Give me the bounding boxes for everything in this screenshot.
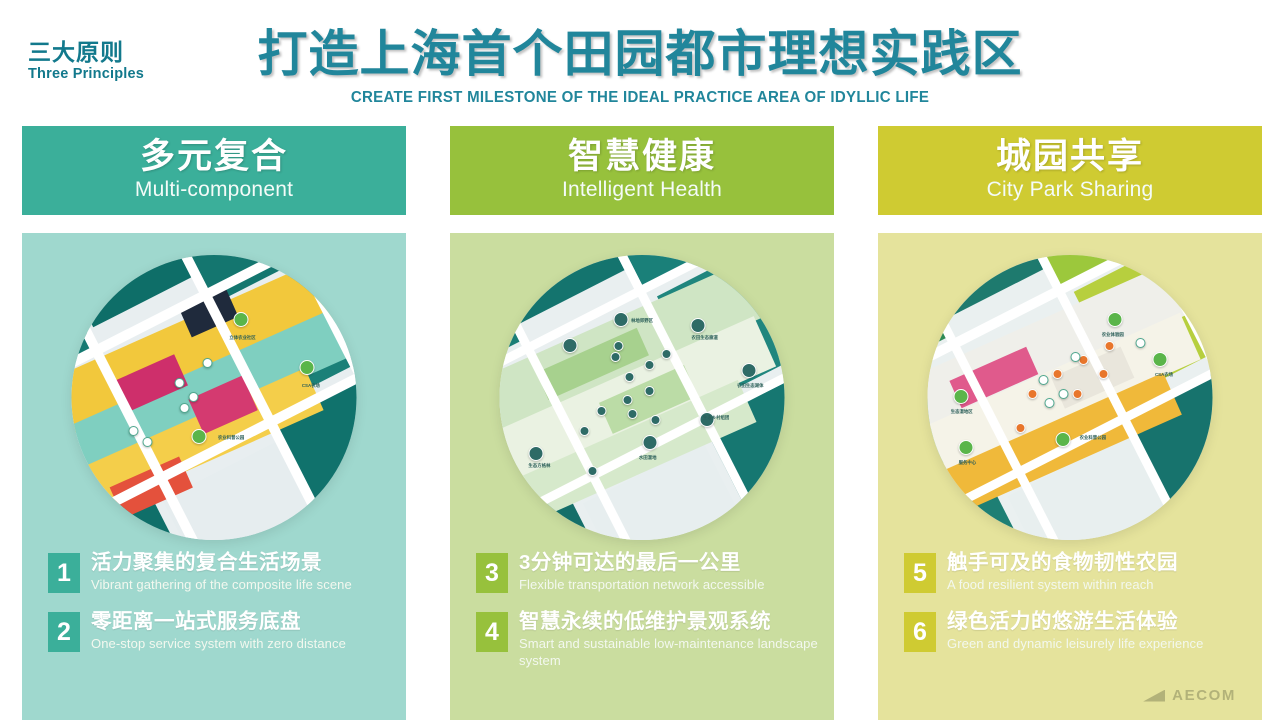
item-title-en: Flexible transportation network accessib… <box>519 577 765 594</box>
column-header-intelligent-health: 智慧健康 Intelligent Health <box>450 126 834 215</box>
column-title-cn: 智慧健康 <box>568 139 716 176</box>
map-pin-label: 农业科普公园 <box>1080 435 1106 441</box>
principle-column-intelligent-health: 智慧健康 Intelligent Health <box>450 126 834 720</box>
map-pin <box>129 426 139 436</box>
principle-column-multi-component: 多元复合 Multi-component <box>22 126 406 720</box>
map-pin <box>614 341 624 351</box>
map-pin <box>1153 352 1168 367</box>
item-title-cn: 零距离一站式服务底盘 <box>91 610 346 634</box>
map-pin <box>579 426 589 436</box>
list-item: 3 3分钟可达的最后一公里 Flexible transportation ne… <box>476 551 820 594</box>
map-figure-intelligent-health: 林地郊野区 农田生态廊道 农田生态湖体 水田湿地 生态乡村组团 生态方格林 <box>500 255 785 540</box>
map-pin <box>191 429 206 444</box>
map-pin-label: 生态乡村组团 <box>703 415 729 421</box>
item-title-en: Smart and sustainable low-maintenance la… <box>519 636 820 670</box>
map-pin <box>528 446 543 461</box>
map-pin-label: 水田湿地 <box>639 455 657 461</box>
map-pin-label: 农业科普公园 <box>218 435 244 441</box>
page-subtitle: CREATE FIRST MILESTONE OF THE IDEAL PRAC… <box>19 89 1261 107</box>
map-pin <box>596 406 606 416</box>
list-item: 1 活力聚集的复合生活场景 Vibrant gathering of the c… <box>48 551 392 594</box>
map-pin-label: 服务中心 <box>959 460 977 466</box>
map-pin <box>1044 398 1054 408</box>
item-title-cn: 绿色活力的悠游生活体验 <box>947 610 1204 634</box>
map-pin <box>1079 355 1089 365</box>
item-number-badge: 4 <box>476 612 508 652</box>
aecom-logo: AECOM <box>1143 687 1236 704</box>
title-block: 打造上海首个田园都市理想实践区 CREATE FIRST MILESTONE O… <box>0 26 1280 107</box>
map-pin <box>1056 432 1071 447</box>
map-pin-label: 立体农业社区 <box>229 335 255 341</box>
map-figure-city-park-sharing: 农业体验园 CSA农场 农业科普公园 生态湿地区 服务中心 <box>928 255 1213 540</box>
page-title: 打造上海首个田园都市理想实践区 <box>0 26 1280 83</box>
aerial-masterplan-map-intelligent-health: 林地郊野区 农田生态廊道 农田生态湖体 水田湿地 生态乡村组团 生态方格林 <box>500 255 785 540</box>
item-title-cn: 智慧永续的低维护景观系统 <box>519 610 820 634</box>
aerial-masterplan-map-city-park-sharing: 农业体验园 CSA农场 农业科普公园 生态湿地区 服务中心 <box>928 255 1213 540</box>
item-title-en: Green and dynamic leisurely life experie… <box>947 636 1204 653</box>
map-pin-label: 农业体验园 <box>1102 332 1124 338</box>
column-title-en: Multi-component <box>135 178 293 202</box>
map-pin <box>953 389 968 404</box>
map-pin-label: CSA农场 <box>1155 372 1173 378</box>
map-pin <box>1107 312 1122 327</box>
principle-items-list-1: 1 活力聚集的复合生活场景 Vibrant gathering of the c… <box>48 551 392 669</box>
map-pin-label: 农田生态湖体 <box>737 383 763 389</box>
map-pin <box>642 435 657 450</box>
column-header-city-park-sharing: 城园共享 City Park Sharing <box>878 126 1262 215</box>
map-pin <box>1059 389 1069 399</box>
item-title-en: One-stop service system with zero distan… <box>91 636 346 653</box>
item-number-badge: 5 <box>904 553 936 593</box>
map-pin <box>203 358 213 368</box>
column-title-en: City Park Sharing <box>987 178 1154 202</box>
map-pin <box>1104 341 1114 351</box>
principle-column-city-park-sharing: 城园共享 City Park Sharing <box>878 126 1262 720</box>
list-item: 2 零距离一站式服务底盘 One-stop service system wit… <box>48 610 392 653</box>
map-pin <box>1136 338 1146 348</box>
principles-columns: 多元复合 Multi-component <box>0 126 1280 720</box>
map-pin <box>562 338 577 353</box>
column-title-cn: 多元复合 <box>140 139 288 176</box>
item-number-badge: 6 <box>904 612 936 652</box>
item-title-en: Vibrant gathering of the composite life … <box>91 577 352 594</box>
item-title-cn: 触手可及的食物韧性农园 <box>947 551 1178 575</box>
map-pin <box>1039 375 1049 385</box>
column-header-multi-component: 多元复合 Multi-component <box>22 126 406 215</box>
map-pin <box>614 312 629 327</box>
list-item: 4 智慧永续的低维护景观系统 Smart and sustainable low… <box>476 610 820 670</box>
item-number-badge: 3 <box>476 553 508 593</box>
aerial-masterplan-map-multi-component: 立体农业社区 CSA农场 农业科普公园 <box>72 255 357 540</box>
item-title-cn: 3分钟可达的最后一公里 <box>519 551 765 575</box>
map-figure-multi-component: 立体农业社区 CSA农场 农业科普公园 <box>72 255 357 540</box>
list-item: 5 触手可及的食物韧性农园 A food resilient system wi… <box>904 551 1248 594</box>
map-pin <box>1070 352 1080 362</box>
map-pin <box>611 352 621 362</box>
aecom-triangle-icon <box>1143 690 1165 702</box>
map-pin-label: 农田生态廊道 <box>692 335 718 341</box>
column-body-multi-component: 立体农业社区 CSA农场 农业科普公园 1 活力聚集 <box>22 233 406 720</box>
slide-header: 三大原则 Three Principles 打造上海首个田园都市理想实践区 CR… <box>0 0 1280 120</box>
map-pin <box>622 395 632 405</box>
map-pin-label: 生态方格林 <box>528 463 550 469</box>
map-pin <box>651 415 661 425</box>
map-pin-label: 林地郊野区 <box>631 318 653 324</box>
principle-items-list-3: 5 触手可及的食物韧性农园 A food resilient system wi… <box>904 551 1248 669</box>
item-number-badge: 1 <box>48 553 80 593</box>
principle-items-list-2: 3 3分钟可达的最后一公里 Flexible transportation ne… <box>476 551 820 686</box>
item-title-cn: 活力聚集的复合生活场景 <box>91 551 352 575</box>
item-title-en: A food resilient system within reach <box>947 577 1178 594</box>
map-pin-label: 生态湿地区 <box>951 409 973 415</box>
map-pin <box>690 318 705 333</box>
column-title-cn: 城园共享 <box>996 139 1144 176</box>
map-pin <box>174 378 184 388</box>
column-body-city-park-sharing: 农业体验园 CSA农场 农业科普公园 生态湿地区 服务中心 <box>878 233 1262 720</box>
item-number-badge: 2 <box>48 612 80 652</box>
aecom-wordmark: AECOM <box>1172 687 1236 704</box>
column-body-intelligent-health: 林地郊野区 农田生态廊道 农田生态湖体 水田湿地 生态乡村组团 生态方格林 <box>450 233 834 720</box>
map-pin <box>188 392 198 402</box>
map-pin-label: CSA农场 <box>302 383 320 389</box>
map-pin <box>1027 389 1037 399</box>
column-title-en: Intelligent Health <box>562 178 722 202</box>
map-pin <box>1099 369 1109 379</box>
list-item: 6 绿色活力的悠游生活体验 Green and dynamic leisurel… <box>904 610 1248 653</box>
